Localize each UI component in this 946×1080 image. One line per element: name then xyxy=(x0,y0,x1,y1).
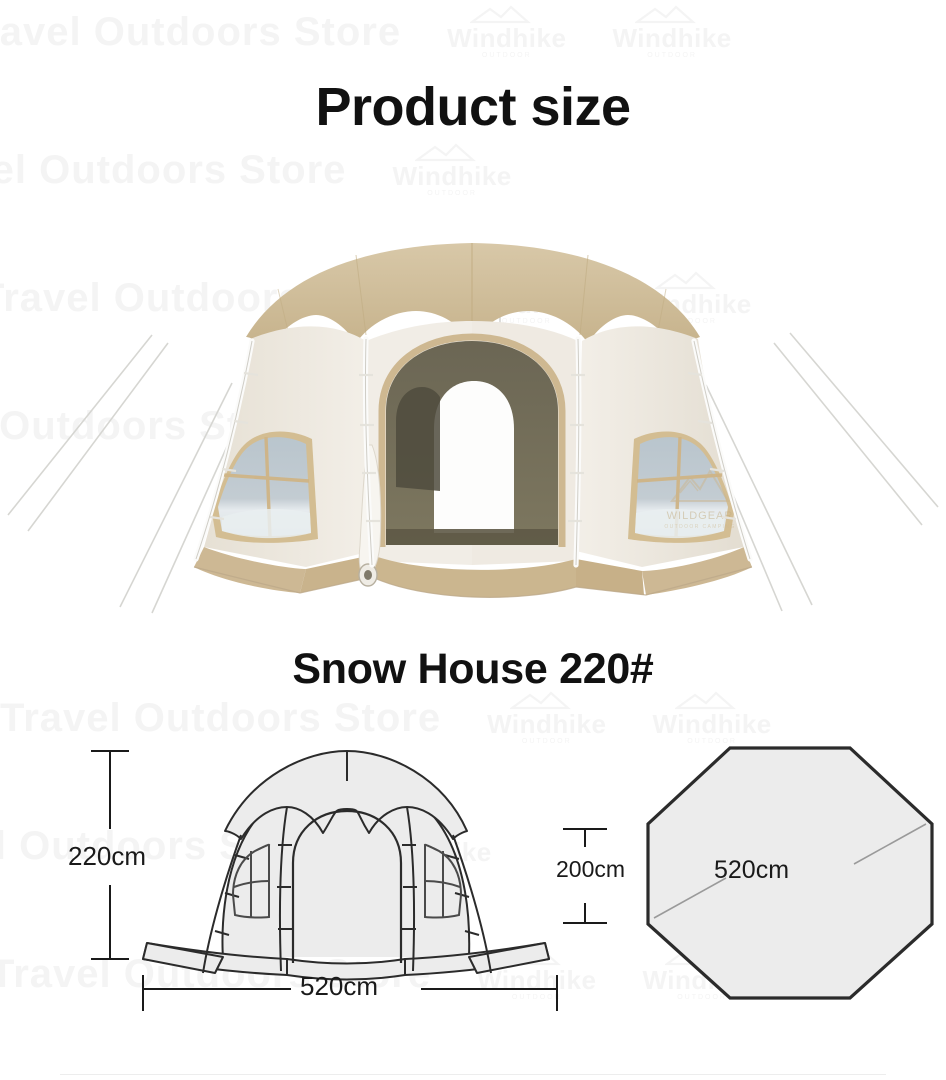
footprint-diagram xyxy=(640,740,940,1005)
watermark-brand-logo: Windhike OUTDOOR xyxy=(612,4,731,61)
tent-door-opening xyxy=(382,337,562,547)
watermark-brand-logo: Windhike OUTDOOR xyxy=(447,4,566,61)
watermark-brand-name: Windhike xyxy=(652,711,771,737)
mountain-icon xyxy=(415,142,489,162)
watermark-brand-name: Windhike xyxy=(612,25,731,51)
product-size-page: Travel Outdoors Store Windhike OUTDOOR W… xyxy=(0,0,946,1080)
watermark-store-text: Travel Outdoors Store xyxy=(0,12,401,52)
watermark-brand-logo: Windhike OUTDOOR xyxy=(652,690,771,747)
dimension-label-floor: 520cm xyxy=(714,858,789,883)
mountain-icon xyxy=(635,4,709,24)
octagon-floor-shape xyxy=(648,748,932,998)
mountain-icon xyxy=(675,690,749,710)
footer-divider xyxy=(60,1074,886,1075)
watermark-brand-logo: Windhike OUTDOOR xyxy=(392,142,511,199)
watermark-store-text: Travel Outdoors Store xyxy=(0,698,441,738)
mountain-icon xyxy=(470,4,544,24)
watermark-brand-tagline: OUTDOOR xyxy=(392,189,511,199)
dimension-label-height: 220cm xyxy=(68,843,146,869)
watermark-row: Travel Outdoors Store Windhike OUTDOOR W… xyxy=(0,4,946,61)
product-model-title: Snow House 220# xyxy=(0,648,946,691)
product-photo: WILDGEAR OUTDOOR CAMPING xyxy=(0,215,946,635)
watermark-brand-name: Windhike xyxy=(392,163,511,189)
svg-text:WILDGEAR: WILDGEAR xyxy=(667,510,734,522)
dimension-label-width: 520cm xyxy=(300,973,378,999)
watermark-brand-name: Windhike xyxy=(447,25,566,51)
page-title: Product size xyxy=(0,80,946,134)
watermark-row: Windhike OUTDOOR Travel Outdoors Store W… xyxy=(0,142,946,199)
watermark-brand-tagline: OUTDOOR xyxy=(447,51,566,61)
watermark-store-text: Travel Outdoors Store xyxy=(0,150,346,190)
mountain-icon xyxy=(510,690,584,710)
dimension-label-inner-height: 200cm xyxy=(556,858,625,881)
watermark-brand-tagline: OUTDOOR xyxy=(612,51,731,61)
watermark-brand-name: Windhike xyxy=(487,711,606,737)
svg-text:OUTDOOR CAMPING: OUTDOOR CAMPING xyxy=(664,524,735,530)
